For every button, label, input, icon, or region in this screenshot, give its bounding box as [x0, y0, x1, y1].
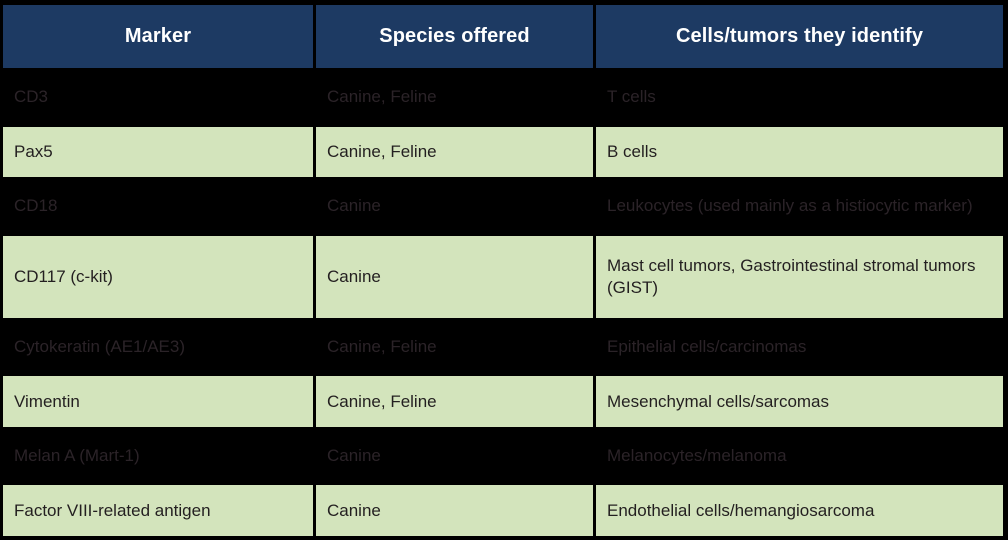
table-row: Melan A (Mart-1)CanineMelanocytes/melano…: [3, 427, 1003, 482]
cell-marker: Factor VIII-related antigen: [3, 481, 316, 536]
table-row: CD117 (c-kit)CanineMast cell tumors, Gas…: [3, 232, 1003, 318]
table-header: Marker Species offered Cells/tumors they…: [3, 5, 1003, 68]
cell-cells: Melanocytes/melanoma: [596, 427, 1003, 482]
table-frame: Marker Species offered Cells/tumors they…: [0, 0, 1008, 540]
table-row: VimentinCanine, FelineMesenchymal cells/…: [3, 372, 1003, 427]
table-row: Cytokeratin (AE1/AE3)Canine, FelineEpith…: [3, 318, 1003, 373]
cell-species: Canine, Feline: [316, 372, 596, 427]
cell-species: Canine: [316, 427, 596, 482]
cell-cells: Leukocytes (used mainly as a histiocytic…: [596, 177, 1003, 232]
cell-species: Canine, Feline: [316, 318, 596, 373]
column-header-cells-tumors: Cells/tumors they identify: [596, 5, 1003, 68]
cell-marker: CD3: [3, 68, 316, 123]
cell-cells: Mesenchymal cells/sarcomas: [596, 372, 1003, 427]
table-row: CD18CanineLeukocytes (used mainly as a h…: [3, 177, 1003, 232]
column-header-marker: Marker: [3, 5, 316, 68]
cell-marker: Melan A (Mart-1): [3, 427, 316, 482]
cell-species: Canine: [316, 232, 596, 318]
table-row: Factor VIII-related antigenCanineEndothe…: [3, 481, 1003, 536]
cell-marker: Vimentin: [3, 372, 316, 427]
cell-species: Canine, Feline: [316, 123, 596, 178]
table-row: CD3Canine, FelineT cells: [3, 68, 1003, 123]
cell-species: Canine: [316, 177, 596, 232]
table-row: Pax5Canine, FelineB cells: [3, 123, 1003, 178]
cell-marker: Cytokeratin (AE1/AE3): [3, 318, 316, 373]
column-header-species-offered: Species offered: [316, 5, 596, 68]
table-header-row: Marker Species offered Cells/tumors they…: [3, 5, 1003, 68]
cell-marker: Pax5: [3, 123, 316, 178]
marker-reference-table: Marker Species offered Cells/tumors they…: [3, 5, 1003, 536]
cell-cells: Epithelial cells/carcinomas: [596, 318, 1003, 373]
cell-marker: CD117 (c-kit): [3, 232, 316, 318]
cell-cells: B cells: [596, 123, 1003, 178]
cell-species: Canine: [316, 481, 596, 536]
cell-marker: CD18: [3, 177, 316, 232]
cell-cells: Mast cell tumors, Gastrointestinal strom…: [596, 232, 1003, 318]
cell-cells: Endothelial cells/hemangiosarcoma: [596, 481, 1003, 536]
cell-species: Canine, Feline: [316, 68, 596, 123]
cell-cells: T cells: [596, 68, 1003, 123]
table-body: CD3Canine, FelineT cellsPax5Canine, Feli…: [3, 68, 1003, 536]
